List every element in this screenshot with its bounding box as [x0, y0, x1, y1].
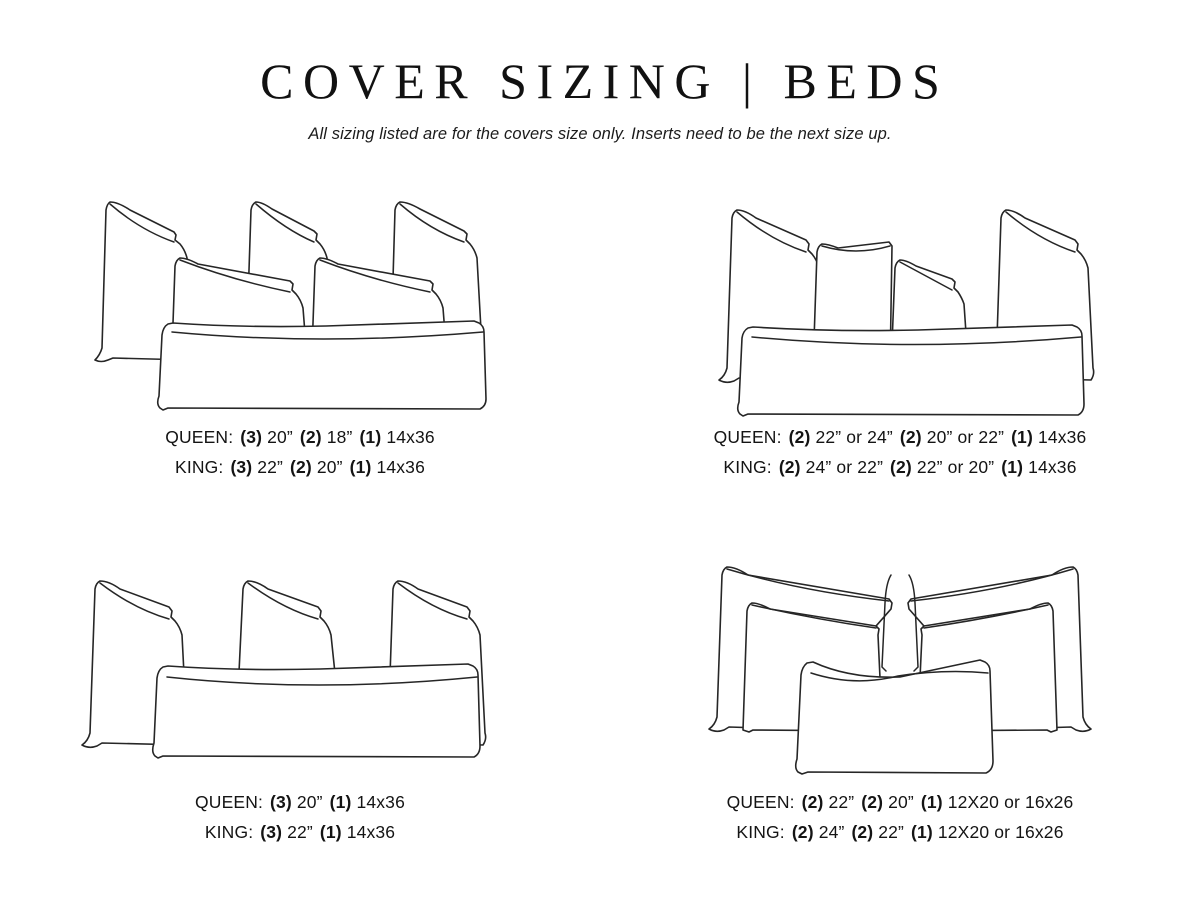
caption-quantity: (2)	[900, 427, 922, 447]
caption-quantity: (2)	[890, 457, 912, 477]
panel-2: QUEEN:(2) 22” or 24”(2) 20” or 22”(1) 14…	[600, 180, 1200, 530]
caption-bed-label: KING:	[736, 822, 784, 842]
caption-quantity: (3)	[240, 427, 262, 447]
small-lumbar-pillow-front	[796, 660, 993, 774]
caption-size: 14x36	[386, 427, 434, 447]
caption-bed-label: KING:	[205, 822, 253, 842]
long-lumbar-pillow-front	[153, 664, 480, 758]
caption-bed-label: KING:	[175, 457, 223, 477]
caption-size: 20”	[317, 457, 343, 477]
caption-quantity: (1)	[921, 792, 943, 812]
caption-quantity: (1)	[320, 822, 342, 842]
caption-line-queen: QUEEN:(2) 22”(2) 20”(1) 12X20 or 16x26	[600, 787, 1200, 817]
caption-quantity: (2)	[861, 792, 883, 812]
page-subtitle: All sizing listed are for the covers siz…	[0, 123, 1200, 145]
caption-line-king: KING:(2) 24”(2) 22”(1) 12X20 or 16x26	[600, 817, 1200, 847]
pillow-illustration-panel-4	[600, 545, 1200, 785]
caption-size: 14x36	[1028, 457, 1076, 477]
caption-bed-label: KING:	[723, 457, 771, 477]
caption-bed-label: QUEEN:	[727, 792, 795, 812]
pillow-illustration-panel-1	[0, 180, 600, 420]
caption-size: 22” or 20”	[917, 457, 994, 477]
caption-size: 20”	[888, 792, 914, 812]
caption-size: 12X20 or 16x26	[948, 792, 1074, 812]
caption-line-queen: QUEEN:(3) 20”(1) 14x36	[0, 787, 600, 817]
long-lumbar-pillow-front	[738, 325, 1084, 416]
caption-panel-1: QUEEN:(3) 20”(2) 18”(1) 14x36 KING:(3) 2…	[0, 422, 600, 482]
caption-bed-label: QUEEN:	[714, 427, 782, 447]
caption-quantity: (2)	[300, 427, 322, 447]
panel-grid: QUEEN:(3) 20”(2) 18”(1) 14x36 KING:(3) 2…	[0, 180, 1200, 880]
caption-quantity: (1)	[330, 792, 352, 812]
caption-size: 18”	[327, 427, 353, 447]
caption-quantity: (1)	[1011, 427, 1033, 447]
caption-line-king: KING:(3) 22”(2) 20”(1) 14x36	[0, 452, 600, 482]
caption-panel-4: QUEEN:(2) 22”(2) 20”(1) 12X20 or 16x26 K…	[600, 787, 1200, 847]
caption-quantity: (2)	[792, 822, 814, 842]
caption-size: 24”	[819, 822, 845, 842]
pillow-illustration-panel-3	[0, 545, 600, 785]
caption-quantity: (2)	[290, 457, 312, 477]
caption-quantity: (2)	[802, 792, 824, 812]
caption-bed-label: QUEEN:	[165, 427, 233, 447]
caption-panel-2: QUEEN:(2) 22” or 24”(2) 20” or 22”(1) 14…	[600, 422, 1200, 482]
caption-size: 14x36	[347, 822, 395, 842]
caption-bed-label: QUEEN:	[195, 792, 263, 812]
caption-quantity: (1)	[911, 822, 933, 842]
caption-size: 20” or 22”	[927, 427, 1004, 447]
panel-1: QUEEN:(3) 20”(2) 18”(1) 14x36 KING:(3) 2…	[0, 180, 600, 530]
caption-size: 20”	[297, 792, 323, 812]
caption-size: 22”	[257, 457, 283, 477]
caption-quantity: (1)	[1001, 457, 1023, 477]
panel-3: QUEEN:(3) 20”(1) 14x36 KING:(3) 22”(1) 1…	[0, 545, 600, 895]
caption-line-king: KING:(2) 24” or 22”(2) 22” or 20”(1) 14x…	[600, 452, 1200, 482]
caption-size: 22” or 24”	[815, 427, 892, 447]
caption-size: 14x36	[357, 792, 405, 812]
caption-quantity: (1)	[350, 457, 372, 477]
caption-line-queen: QUEEN:(2) 22” or 24”(2) 20” or 22”(1) 14…	[600, 422, 1200, 452]
caption-quantity: (3)	[270, 792, 292, 812]
caption-size: 22”	[828, 792, 854, 812]
cover-sizing-beds-infographic: COVER SIZING | BEDS All sizing listed ar…	[0, 0, 1200, 900]
panel-4: QUEEN:(2) 22”(2) 20”(1) 12X20 or 16x26 K…	[600, 545, 1200, 895]
long-lumbar-pillow-front	[158, 321, 486, 410]
page-title: COVER SIZING | BEDS	[0, 52, 1200, 110]
caption-quantity: (2)	[789, 427, 811, 447]
caption-size: 20”	[267, 427, 293, 447]
caption-quantity: (2)	[779, 457, 801, 477]
caption-size: 24” or 22”	[806, 457, 883, 477]
caption-quantity: (2)	[851, 822, 873, 842]
pillow-illustration-panel-2	[600, 180, 1200, 420]
caption-quantity: (1)	[359, 427, 381, 447]
caption-size: 14x36	[1038, 427, 1086, 447]
caption-quantity: (3)	[260, 822, 282, 842]
caption-quantity: (3)	[230, 457, 252, 477]
header: COVER SIZING | BEDS All sizing listed ar…	[0, 52, 1200, 145]
caption-size: 22”	[287, 822, 313, 842]
caption-size: 22”	[878, 822, 904, 842]
caption-panel-3: QUEEN:(3) 20”(1) 14x36 KING:(3) 22”(1) 1…	[0, 787, 600, 847]
caption-size: 14x36	[377, 457, 425, 477]
caption-size: 12X20 or 16x26	[938, 822, 1064, 842]
caption-line-king: KING:(3) 22”(1) 14x36	[0, 817, 600, 847]
caption-line-queen: QUEEN:(3) 20”(2) 18”(1) 14x36	[0, 422, 600, 452]
